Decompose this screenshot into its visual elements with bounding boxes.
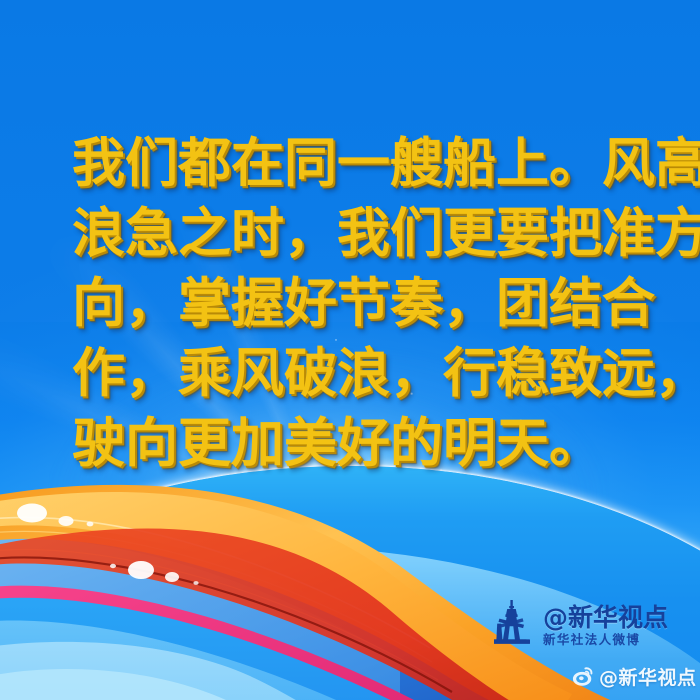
brand-subtitle: 新华社法人微博 [543,634,668,647]
xinhua-tower-logo-icon [488,598,536,646]
headline-line-4: 作，乘风破浪，行稳致远， [72,338,642,408]
poster-canvas: 我们都在同一艘船上。风高 浪急之时，我们更要把准方 向，掌握好节奏，团结合 作，… [0,0,700,700]
brand-text-block: @新华视点 新华社法人微博 [543,605,668,647]
headline-quote: 我们都在同一艘船上。风高 浪急之时，我们更要把准方 向，掌握好节奏，团结合 作，… [72,128,642,478]
watermark-text: @新华视点 [599,663,697,690]
weibo-watermark: @新华视点 [572,663,697,690]
headline-line-5: 驶向更加美好的明天。 [72,408,642,478]
brand-name: @新华视点 [543,605,668,630]
headline-line-1: 我们都在同一艘船上。风高 [72,128,642,198]
xinhua-brand-lockup: @新华视点 新华社法人微博 [488,598,668,646]
headline-line-3: 向，掌握好节奏，团结合 [72,268,642,338]
weibo-eye-icon [572,666,594,688]
headline-line-2: 浪急之时，我们更要把准方 [72,198,642,268]
